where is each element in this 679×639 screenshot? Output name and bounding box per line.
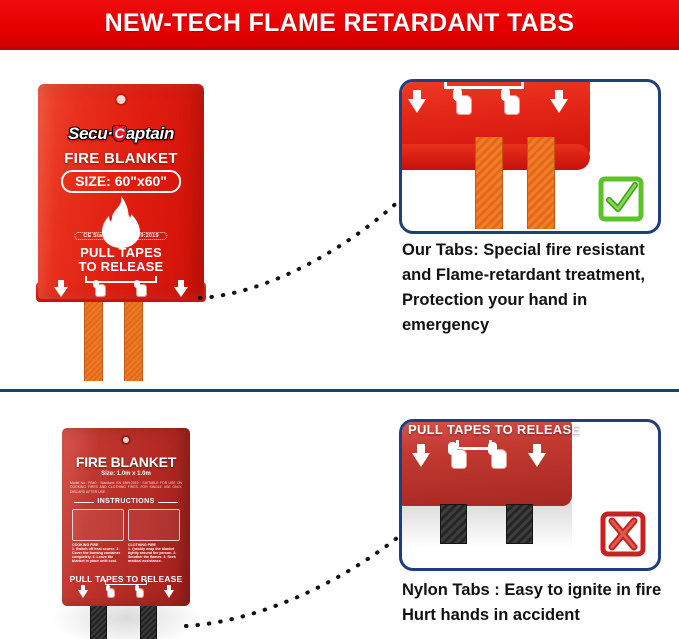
hand-pull-icon	[135, 585, 146, 599]
fineprint-text: Model No.: FB40 · Standard: EN 1869:2019…	[70, 481, 182, 494]
hand-pull-icon	[448, 442, 470, 471]
hand-pull-icon	[106, 585, 117, 599]
instruction-captions: COOKING FIRE 1. Switch off heat source. …	[72, 543, 180, 563]
connector-line-bottom	[182, 528, 406, 630]
panel-2-steps: 1. Quickly wrap the blanket tightly arou…	[128, 547, 180, 563]
pictogram-cooking-fire	[72, 509, 124, 541]
connector-line-top	[196, 190, 406, 300]
caption-top: Our Tabs: Special fire resistant and Fla…	[402, 238, 678, 338]
product-package-top: Secu·Captain FIRE BLANKET SIZE: 60"x60" …	[38, 84, 204, 316]
page-title: NEW-TECH FLAME RETARDANT TABS	[105, 9, 575, 38]
zoom-inset-bottom: PULL TAPES TO RELEASE	[399, 419, 661, 571]
hang-grommet-icon	[115, 93, 128, 106]
pull-line-1: PULL TAPES	[38, 246, 204, 260]
pouch-front-bottom: FIRE BLANKET Size: 1.0m x 1.0m Model No.…	[62, 428, 190, 606]
header-banner: NEW-TECH FLAME RETARDANT TABS	[0, 0, 679, 50]
pull-instruction-icons	[54, 280, 188, 299]
shield-icon: C	[112, 125, 127, 142]
brand-logo: Secu·Captain	[38, 124, 204, 144]
down-arrow-icon	[54, 287, 68, 297]
hang-grommet-icon	[121, 435, 131, 445]
down-arrow-icon	[528, 453, 546, 467]
hand-pull-icon	[134, 280, 149, 299]
zoom-black-tab-right	[506, 504, 533, 544]
caption-bottom: Nylon Tabs : Easy to ignite in fire Hurt…	[402, 578, 678, 628]
panel-1-steps: 1. Switch off heat source. 2. Cover the …	[72, 547, 124, 563]
flame-icon	[97, 194, 145, 250]
down-arrow-icon	[408, 99, 426, 113]
down-arrow-icon	[78, 590, 88, 598]
hand-pull-icon	[501, 88, 523, 117]
orange-tab-left	[84, 289, 103, 381]
down-arrow-icon	[164, 590, 174, 598]
zoom-black-tab-left	[440, 504, 467, 544]
product-name-bottom: FIRE BLANKET	[62, 454, 190, 470]
product-name-top: FIRE BLANKET	[38, 150, 204, 167]
zoom-pouch-bottom: PULL TAPES TO RELEASE	[399, 419, 572, 506]
panel-1: COOKING FIRE 1. Switch off heat source. …	[72, 543, 124, 563]
down-arrow-icon	[550, 99, 568, 113]
panel-2: CLOTHING FIRE 1. Quickly wrap the blanke…	[128, 543, 180, 563]
zoom-pull-tapes-header: PULL TAPES TO RELEASE	[408, 422, 580, 437]
hand-pull-icon	[453, 88, 475, 117]
pictogram-clothing-fire	[128, 509, 180, 541]
hand-pull-icon	[488, 442, 510, 471]
pull-instruction-icons	[412, 442, 546, 471]
size-label-top: SIZE: 60"x60"	[61, 170, 181, 193]
pull-line-2: TO RELEASE	[38, 260, 204, 274]
pouch-front: Secu·Captain FIRE BLANKET SIZE: 60"x60" …	[38, 84, 204, 299]
pull-instruction-icons	[78, 585, 174, 599]
certification-label: CE Standard:EN-1869:2019	[74, 232, 167, 240]
pull-instruction-icons	[408, 88, 568, 117]
green-check-icon	[598, 176, 644, 222]
product-package-bottom: FIRE BLANKET Size: 1.0m x 1.0m Model No.…	[62, 428, 190, 639]
ground-shadow	[399, 502, 572, 548]
pull-tapes-text-top: PULL TAPES TO RELEASE	[38, 246, 204, 274]
orange-tabs-group	[38, 289, 204, 381]
orange-tab-right	[124, 289, 143, 381]
instruction-pictograms	[72, 509, 180, 541]
down-arrow-icon	[412, 453, 430, 467]
section-divider	[0, 389, 679, 392]
hand-pull-icon	[93, 280, 108, 299]
size-label-bottom: Size: 1.0m x 1.0m	[62, 471, 190, 477]
infographic-page: NEW-TECH FLAME RETARDANT TABS Secu·Capta…	[0, 0, 679, 639]
red-cross-icon	[600, 511, 646, 557]
zoom-orange-tab-left	[475, 137, 503, 229]
zoom-inset-top	[399, 79, 661, 234]
zoom-orange-tab-right	[527, 137, 555, 229]
instructions-label: INSTRUCTIONS	[74, 498, 178, 505]
down-arrow-icon	[174, 287, 188, 297]
